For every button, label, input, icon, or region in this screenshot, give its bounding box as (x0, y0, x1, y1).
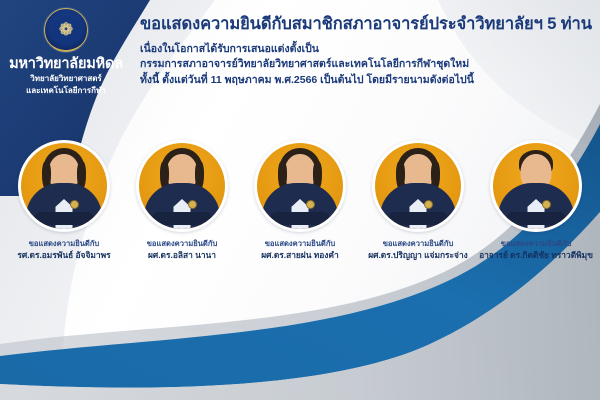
subtitle-line-2: กรรมการสภาอาจารย์วิทยาลัยวิทยาศาสตร์และเ… (140, 57, 592, 73)
headline-block: ขอแสดงความยินดีกับสมาชิกสภาอาจารย์ประจำว… (140, 14, 592, 89)
honoree-caption: ขอแสดงความยินดีกับ ผศ.ดร.อลิสา นานา (147, 239, 218, 262)
honoree-caption: ขอแสดงความยินดีกับ ผศ.ดร.ปริญญา แจ่มกระจ… (368, 239, 468, 262)
honoree-caption: ขอแสดงความยินดีกับ อาจารย์ ดร.กิตติชัย ท… (479, 239, 593, 262)
honoree-greeting: ขอแสดงความยินดีกับ (479, 239, 593, 249)
honoree-greeting: ขอแสดงความยินดีกับ (17, 239, 110, 249)
honoree-card: ขอแสดงความยินดีกับ ผศ.ดร.สายฝน ทองคำ (244, 140, 356, 262)
avatar (490, 140, 582, 232)
honoree-name: รศ.ดร.อมรพันธ์ อัจจิมาพร (17, 250, 110, 261)
congratulation-banner: ❁ มหาวิทยาลัยมหิดล วิทยาลัยวิทยาศาสตร์ แ… (0, 0, 600, 400)
honoree-caption: ขอแสดงความยินดีกับ ผศ.ดร.สายฝน ทองคำ (261, 239, 338, 262)
honoree-name: อาจารย์ ดร.กิตติชัย ทราวดีพิมุข (479, 250, 593, 261)
avatar (18, 140, 110, 232)
portrait-photo-1 (21, 143, 107, 229)
portrait-photo-5 (493, 143, 579, 229)
subtitle-line-1: เนื่องในโอกาสได้รับการเสนอแต่งตั้งเป็น (140, 42, 592, 58)
honoree-greeting: ขอแสดงความยินดีกับ (368, 239, 468, 249)
portrait-photo-2 (139, 143, 225, 229)
honoree-name: ผศ.ดร.อลิสา นานา (147, 250, 218, 261)
portrait-photo-4 (375, 143, 461, 229)
honoree-name: ผศ.ดร.ปริญญา แจ่มกระจ่าง (368, 250, 468, 261)
honoree-name: ผศ.ดร.สายฝน ทองคำ (261, 250, 338, 261)
portrait-photo-3 (257, 143, 343, 229)
subtitle-line-3: ทั้งนี้ ตั้งแต่วันที่ 11 พฤษภาคม พ.ศ.256… (140, 73, 592, 89)
honoree-card: ขอแสดงความยินดีกับ ผศ.ดร.ปริญญา แจ่มกระจ… (362, 140, 474, 262)
honoree-card: ขอแสดงความยินดีกับ รศ.ดร.อมรพันธ์ อัจจิม… (8, 140, 120, 262)
honoree-card: ขอแสดงความยินดีกับ อาจารย์ ดร.กิตติชัย ท… (480, 140, 592, 262)
avatar (372, 140, 464, 232)
page-title: ขอแสดงความยินดีกับสมาชิกสภาอาจารย์ประจำว… (140, 14, 592, 35)
honoree-greeting: ขอแสดงความยินดีกับ (261, 239, 338, 249)
honoree-card: ขอแสดงความยินดีกับ ผศ.ดร.อลิสา นานา (126, 140, 238, 262)
honoree-list: ขอแสดงความยินดีกับ รศ.ดร.อมรพันธ์ อัจจิม… (8, 140, 592, 262)
avatar (254, 140, 346, 232)
avatar (136, 140, 228, 232)
honoree-caption: ขอแสดงความยินดีกับ รศ.ดร.อมรพันธ์ อัจจิม… (17, 239, 110, 262)
honoree-greeting: ขอแสดงความยินดีกับ (147, 239, 218, 249)
